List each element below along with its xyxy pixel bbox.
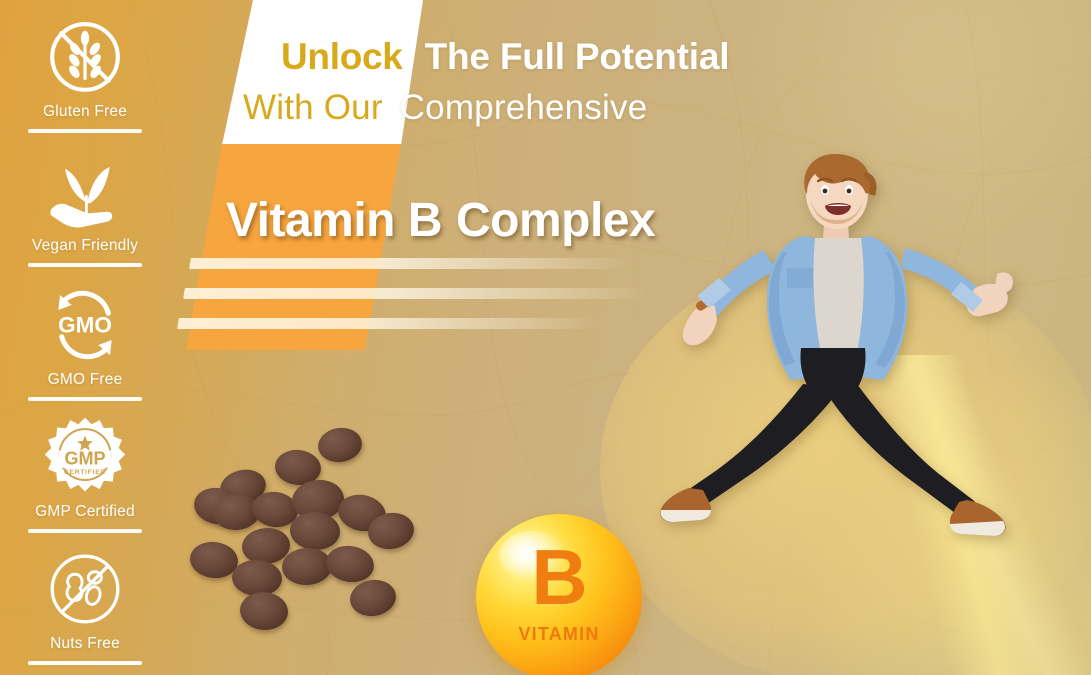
pill-tablet (281, 547, 333, 587)
pills-cluster (180, 420, 430, 640)
headline-text-comprehensive: Comprehensive (400, 90, 648, 125)
certification-item-nuts-free: Nuts Free (5, 541, 165, 673)
certification-item-vegan-friendly: Vegan Friendly (5, 141, 165, 275)
no-gmo-icon: GMO (41, 281, 129, 369)
certification-divider (28, 661, 142, 665)
headline-text-full-potential: The Full Potential (425, 38, 730, 75)
headline: Unlock The Full Potential With Our Compr… (0, 38, 840, 148)
gmo-icon-text: GMO (58, 313, 112, 338)
pill-tablet (289, 510, 342, 551)
certification-divider (28, 263, 142, 267)
product-title: Vitamin BComplex (226, 193, 655, 248)
no-nuts-icon (41, 545, 129, 633)
decorative-stripe-1 (189, 258, 631, 269)
headline-accent-unlock: Unlock (281, 38, 403, 75)
hand-leaf-icon (41, 147, 129, 235)
certification-label: Nuts Free (50, 635, 120, 652)
pill-tablet (238, 590, 289, 632)
certification-item-gmo-free: GMO GMO Free (5, 275, 165, 409)
certification-item-gmp-certified: GMP CERTIFIED GMP Certified (5, 409, 165, 541)
gmp-badge-icon: GMP CERTIFIED (41, 413, 129, 501)
jumping-man-photo (655, 152, 1055, 592)
vitamin-b-complex-banner: Gluten Free Vegan Friendly (0, 0, 1091, 675)
headline-line-2: With Our Comprehensive (0, 90, 840, 138)
certification-label: GMP Certified (35, 503, 135, 520)
product-title-part-1: Vitamin B (226, 194, 442, 247)
decorative-stripe-2 (183, 288, 650, 299)
headline-line-1: Unlock The Full Potential (0, 38, 840, 86)
certification-label: Vegan Friendly (32, 237, 138, 254)
pill-tablet (323, 542, 376, 585)
decorative-stripe-3 (177, 318, 599, 329)
pill-tablet (347, 577, 398, 620)
gmp-icon-text: GMP (64, 449, 105, 469)
vitamin-b-word: VITAMIN (476, 624, 642, 645)
pill-tablet (316, 425, 364, 465)
headline-accent-with-our: With Our (243, 90, 383, 125)
certification-divider (28, 529, 142, 533)
certification-label: GMO Free (48, 371, 123, 388)
vitamin-b-badge: B VITAMIN (476, 514, 642, 675)
vitamin-b-letter: B (476, 538, 642, 616)
gmp-icon-subtext: CERTIFIED (64, 469, 106, 476)
certification-divider (28, 397, 142, 401)
product-title-part-2: Complex (456, 194, 655, 247)
